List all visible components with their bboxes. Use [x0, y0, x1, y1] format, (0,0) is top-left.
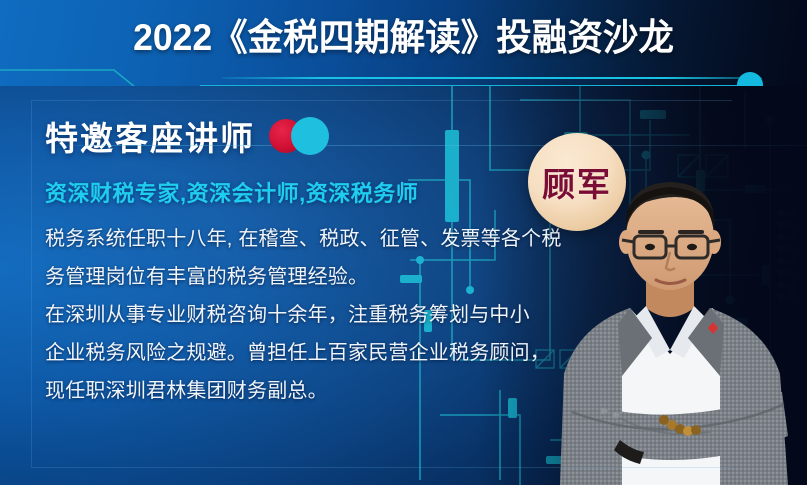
header-banner: 2022《金税四期解读》投融资沙龙 — [0, 0, 807, 86]
decorative-dots-group — [269, 115, 339, 157]
speaker-label: 特邀客座讲师 — [45, 112, 255, 160]
bio-line: 企业税务风险之规避。曾担任上百家民营企业税务顾问， — [45, 338, 605, 369]
page-title: 2022《金税四期解读》投融资沙龙 — [16, 14, 791, 62]
speaker-name: 顾军 — [542, 158, 612, 206]
speaker-credentials: 资深财税专家,资深会计师,资深税务师 — [45, 176, 605, 208]
speaker-name-badge: 顾军 — [528, 133, 626, 231]
header-accent-line-upper — [222, 77, 762, 79]
bio-line: 税务系统任职十八年, 在稽查、税政、征管、发票等各个税 — [45, 224, 605, 255]
header-step-line-decoration — [0, 58, 296, 86]
speaker-info-block: 特邀客座讲师 资深财税专家,资深会计师,资深税务师 税务系统任职十八年, 在稽查… — [45, 112, 605, 414]
poster-canvas: 2022《金税四期解读》投融资沙龙 特邀客座讲师 资深财税专家,资深会计师,资深… — [0, 0, 807, 485]
header-accent-dot-icon — [737, 72, 763, 86]
bio-line: 现任职深圳君林集团财务副总。 — [45, 376, 605, 407]
speaker-label-row: 特邀客座讲师 — [45, 112, 605, 160]
bio-line: 在深圳从事专业财税咨询十余年，注重税务筹划与中小 — [45, 300, 605, 331]
bio-line: 务管理岗位有丰富的税务管理经验。 — [45, 262, 605, 293]
cyan-circle-icon — [291, 117, 329, 155]
speaker-bio: 税务系统任职十八年, 在稽查、税政、征管、发票等各个税 务管理岗位有丰富的税务管… — [45, 224, 605, 407]
